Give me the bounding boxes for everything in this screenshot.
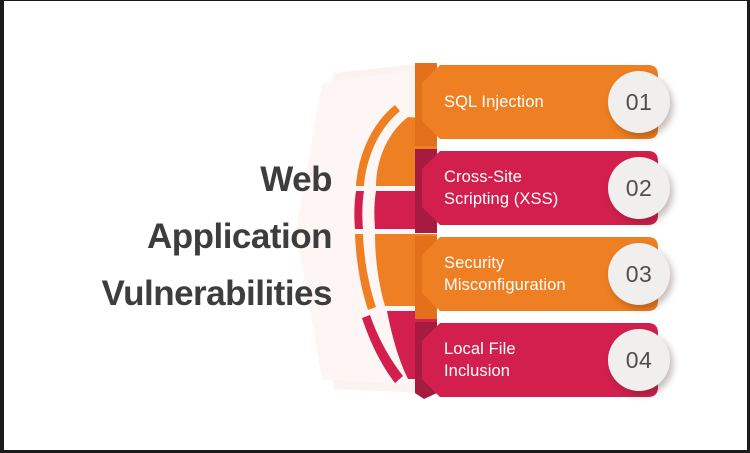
title-line-2: Application xyxy=(32,208,332,265)
item-label-1: SQL Injection xyxy=(444,65,612,139)
item-label-3: Security Misconfiguration xyxy=(444,237,612,311)
title-line-1: Web xyxy=(32,151,332,208)
page-title: Web Application Vulnerabilities xyxy=(32,151,332,322)
item-number-1: 01 xyxy=(626,89,653,116)
item-number-3: 03 xyxy=(626,261,653,288)
item-label-4-line-2: Inclusion xyxy=(444,360,612,382)
item-badge-1: 01 xyxy=(608,71,670,133)
title-line-3: Vulnerabilities xyxy=(32,265,332,322)
item-label-2-line-2: Scripting (XSS) xyxy=(444,188,612,210)
infographic-canvas: Web Application Vulnerabilities SQL Inje… xyxy=(0,0,750,453)
item-badge-4: 04 xyxy=(608,329,670,391)
item-label-3-line-1: Security xyxy=(444,252,612,274)
item-label-2: Cross-Site Scripting (XSS) xyxy=(444,151,612,225)
item-label-2-line-1: Cross-Site xyxy=(444,166,612,188)
item-label-1-line-1: SQL Injection xyxy=(444,91,612,113)
item-label-4-line-1: Local File xyxy=(444,338,612,360)
item-label-4: Local File Inclusion xyxy=(444,323,612,397)
item-badge-3: 03 xyxy=(608,243,670,305)
item-label-3-line-2: Misconfiguration xyxy=(444,274,612,296)
item-number-2: 02 xyxy=(626,175,653,202)
item-number-4: 04 xyxy=(626,347,653,374)
item-badge-2: 02 xyxy=(608,157,670,219)
